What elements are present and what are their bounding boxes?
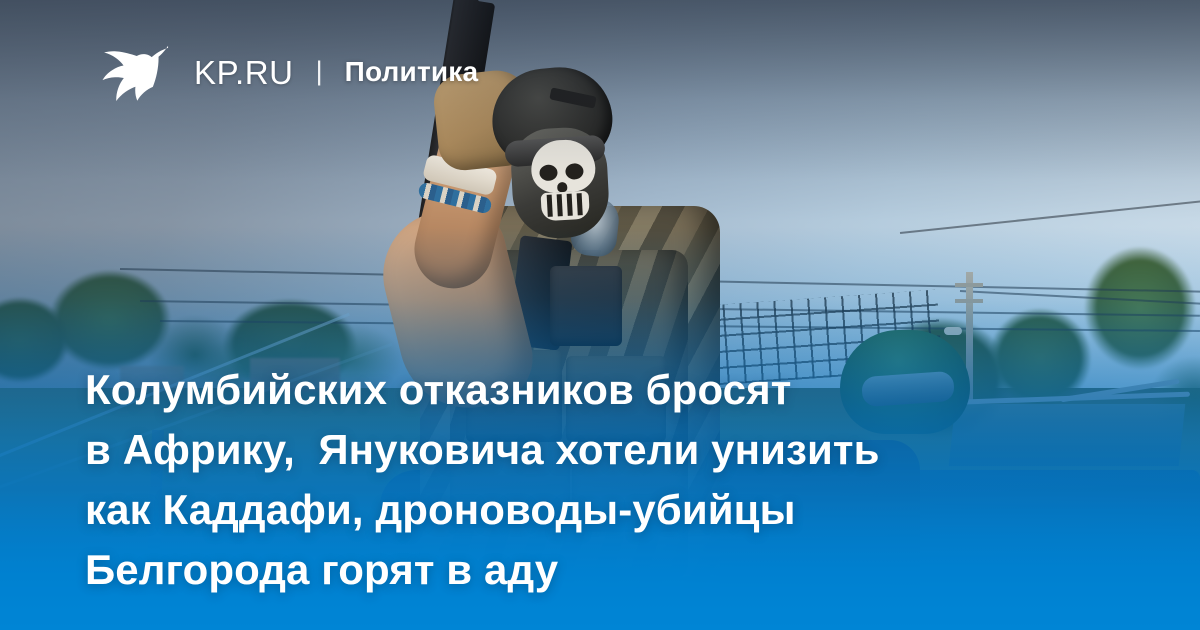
brand-name[interactable]: KP.RU xyxy=(194,56,294,89)
page-title: Колумбийских отказников бросят в Африку,… xyxy=(85,360,1085,600)
kp-ru-social-card: KP.RU | Политика Колумбийских отказников… xyxy=(0,0,1200,630)
swallow-bird-logo-icon[interactable] xyxy=(100,36,172,108)
brand-separator: | xyxy=(316,58,323,85)
rubric-label[interactable]: Политика xyxy=(345,58,479,86)
brand-header: KP.RU | Политика xyxy=(100,36,478,108)
